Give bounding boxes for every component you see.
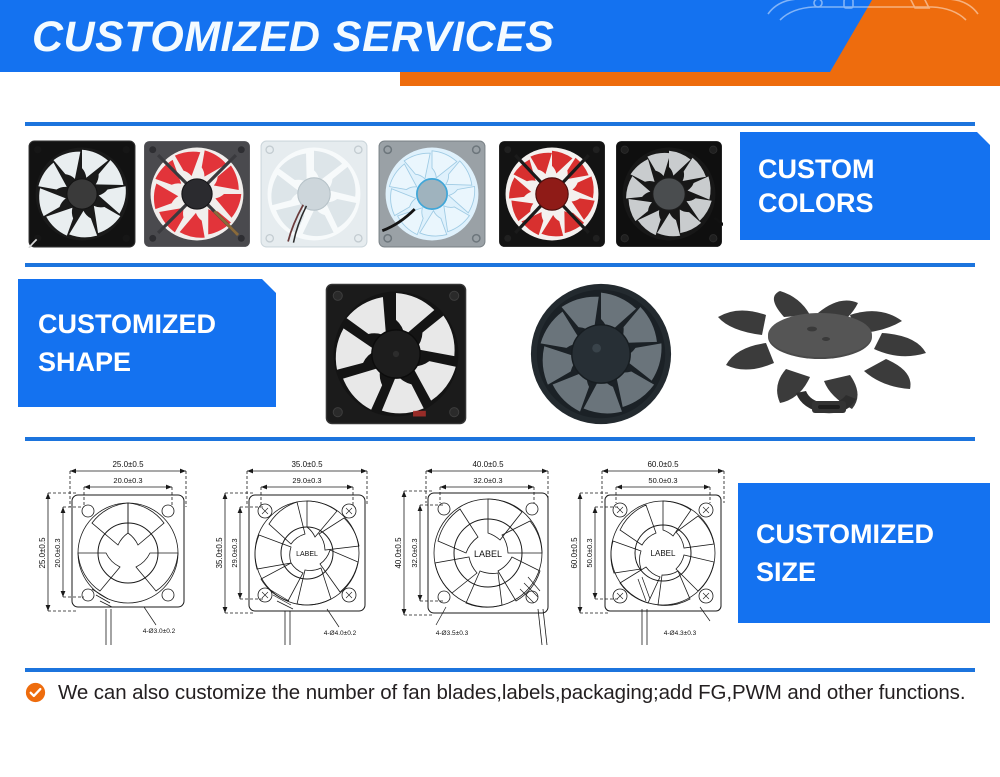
fan-clear-white-blades [260, 140, 368, 248]
fan-red-white-blades [143, 140, 251, 248]
drawing-60mm-hub-label: LABEL [651, 549, 676, 558]
drawing-40mm-hub-label: LABEL [474, 549, 502, 559]
section-divider-2 [25, 263, 975, 267]
fan-square-black [325, 283, 467, 425]
fan-red-hub-red-blades [498, 140, 606, 248]
fan-transparent-blue-blades [378, 140, 486, 248]
drawing-35mm-hub-label: LABEL [296, 551, 318, 558]
drawing-60mm-hole-dim: 50.0±0.3 [648, 476, 677, 485]
label-customized-shape-line1: CUSTOMIZED [38, 305, 276, 343]
footer-text: We can also customize the number of fan … [58, 678, 965, 707]
drawing-35mm: 35.0±0.5 29.0±0.3 35.0±0.5 29.0±0.3 LABE… [207, 449, 389, 649]
drawing-35mm-hole-spec: 4-Ø4.0±0.2 [324, 630, 357, 637]
drawing-25mm-outer-dim-v: 25.0±0.5 [38, 537, 47, 569]
page-title: CUSTOMIZED SERVICES [32, 8, 554, 66]
section-divider-3 [25, 437, 975, 441]
drawing-40mm-hole-dim: 32.0±0.3 [473, 476, 502, 485]
drawing-40mm: 40.0±0.5 32.0±0.3 40.0±0.5 32.0±0.3 LABE… [390, 449, 572, 649]
label-custom-colors: CUSTOM COLORS [740, 132, 990, 240]
drawing-40mm-hole-dim-v: 32.0±0.3 [410, 538, 419, 567]
fan-bare-impeller [700, 289, 940, 423]
drawing-60mm-outer-dim-v: 60.0±0.5 [570, 537, 579, 569]
drawing-35mm-outer-dim: 35.0±0.5 [291, 460, 323, 469]
drawing-35mm-outer-dim-v: 35.0±0.5 [215, 537, 224, 569]
fan-black-white-blades [28, 140, 136, 248]
section-divider-1 [25, 122, 975, 126]
section-customized-size: 25.0±0.5 20.0±0.3 25.0±0.5 20.0±0.3 4-Ø3… [0, 447, 1000, 662]
drawing-60mm-outer-dim: 60.0±0.5 [647, 460, 679, 469]
check-circle-icon [25, 682, 46, 703]
drawing-25mm-hole-spec: 4-Ø3.0±0.2 [143, 628, 176, 635]
drawing-35mm-hole-dim-v: 29.0±0.3 [230, 538, 239, 567]
label-customized-size-line2: SIZE [756, 553, 990, 591]
fan-outline-watermark-icon [760, 0, 990, 28]
section-divider-4 [25, 668, 975, 672]
drawing-25mm-hole-dim: 20.0±0.3 [113, 476, 142, 485]
drawing-25mm-hole-dim-v: 20.0±0.3 [53, 538, 62, 567]
label-custom-colors-line1: CUSTOM [758, 152, 990, 186]
fan-round-black [528, 281, 674, 427]
drawing-60mm-hole-spec: 4-Ø4.3±0.3 [664, 630, 697, 637]
footer-note: We can also customize the number of fan … [25, 678, 975, 707]
label-customized-size: CUSTOMIZED SIZE [738, 483, 990, 623]
label-customized-shape-line2: SHAPE [38, 343, 276, 381]
label-custom-colors-line2: COLORS [758, 186, 990, 220]
drawing-25mm: 25.0±0.5 20.0±0.3 25.0±0.5 20.0±0.3 4-Ø3… [26, 449, 208, 649]
drawing-35mm-hole-dim: 29.0±0.3 [292, 476, 321, 485]
label-customized-shape: CUSTOMIZED SHAPE [18, 279, 276, 407]
label-customized-size-line1: CUSTOMIZED [756, 515, 990, 553]
fan-black-gray-blades [615, 140, 723, 248]
drawing-40mm-hole-spec: 4-Ø3.5±0.3 [436, 630, 469, 637]
drawing-60mm-hole-dim-v: 50.0±0.3 [585, 538, 594, 567]
section-custom-colors: CUSTOM COLORS [0, 132, 1000, 256]
drawing-60mm: 60.0±0.5 50.0±0.3 60.0±0.5 50.0±0.3 LABE… [560, 449, 750, 649]
section-customized-shape: CUSTOMIZED SHAPE [0, 275, 1000, 433]
drawing-40mm-outer-dim: 40.0±0.5 [472, 460, 504, 469]
page-header: CUSTOMIZED SERVICES [0, 0, 1000, 100]
drawing-25mm-outer-dim: 25.0±0.5 [112, 460, 144, 469]
drawing-40mm-outer-dim-v: 40.0±0.5 [394, 537, 403, 569]
